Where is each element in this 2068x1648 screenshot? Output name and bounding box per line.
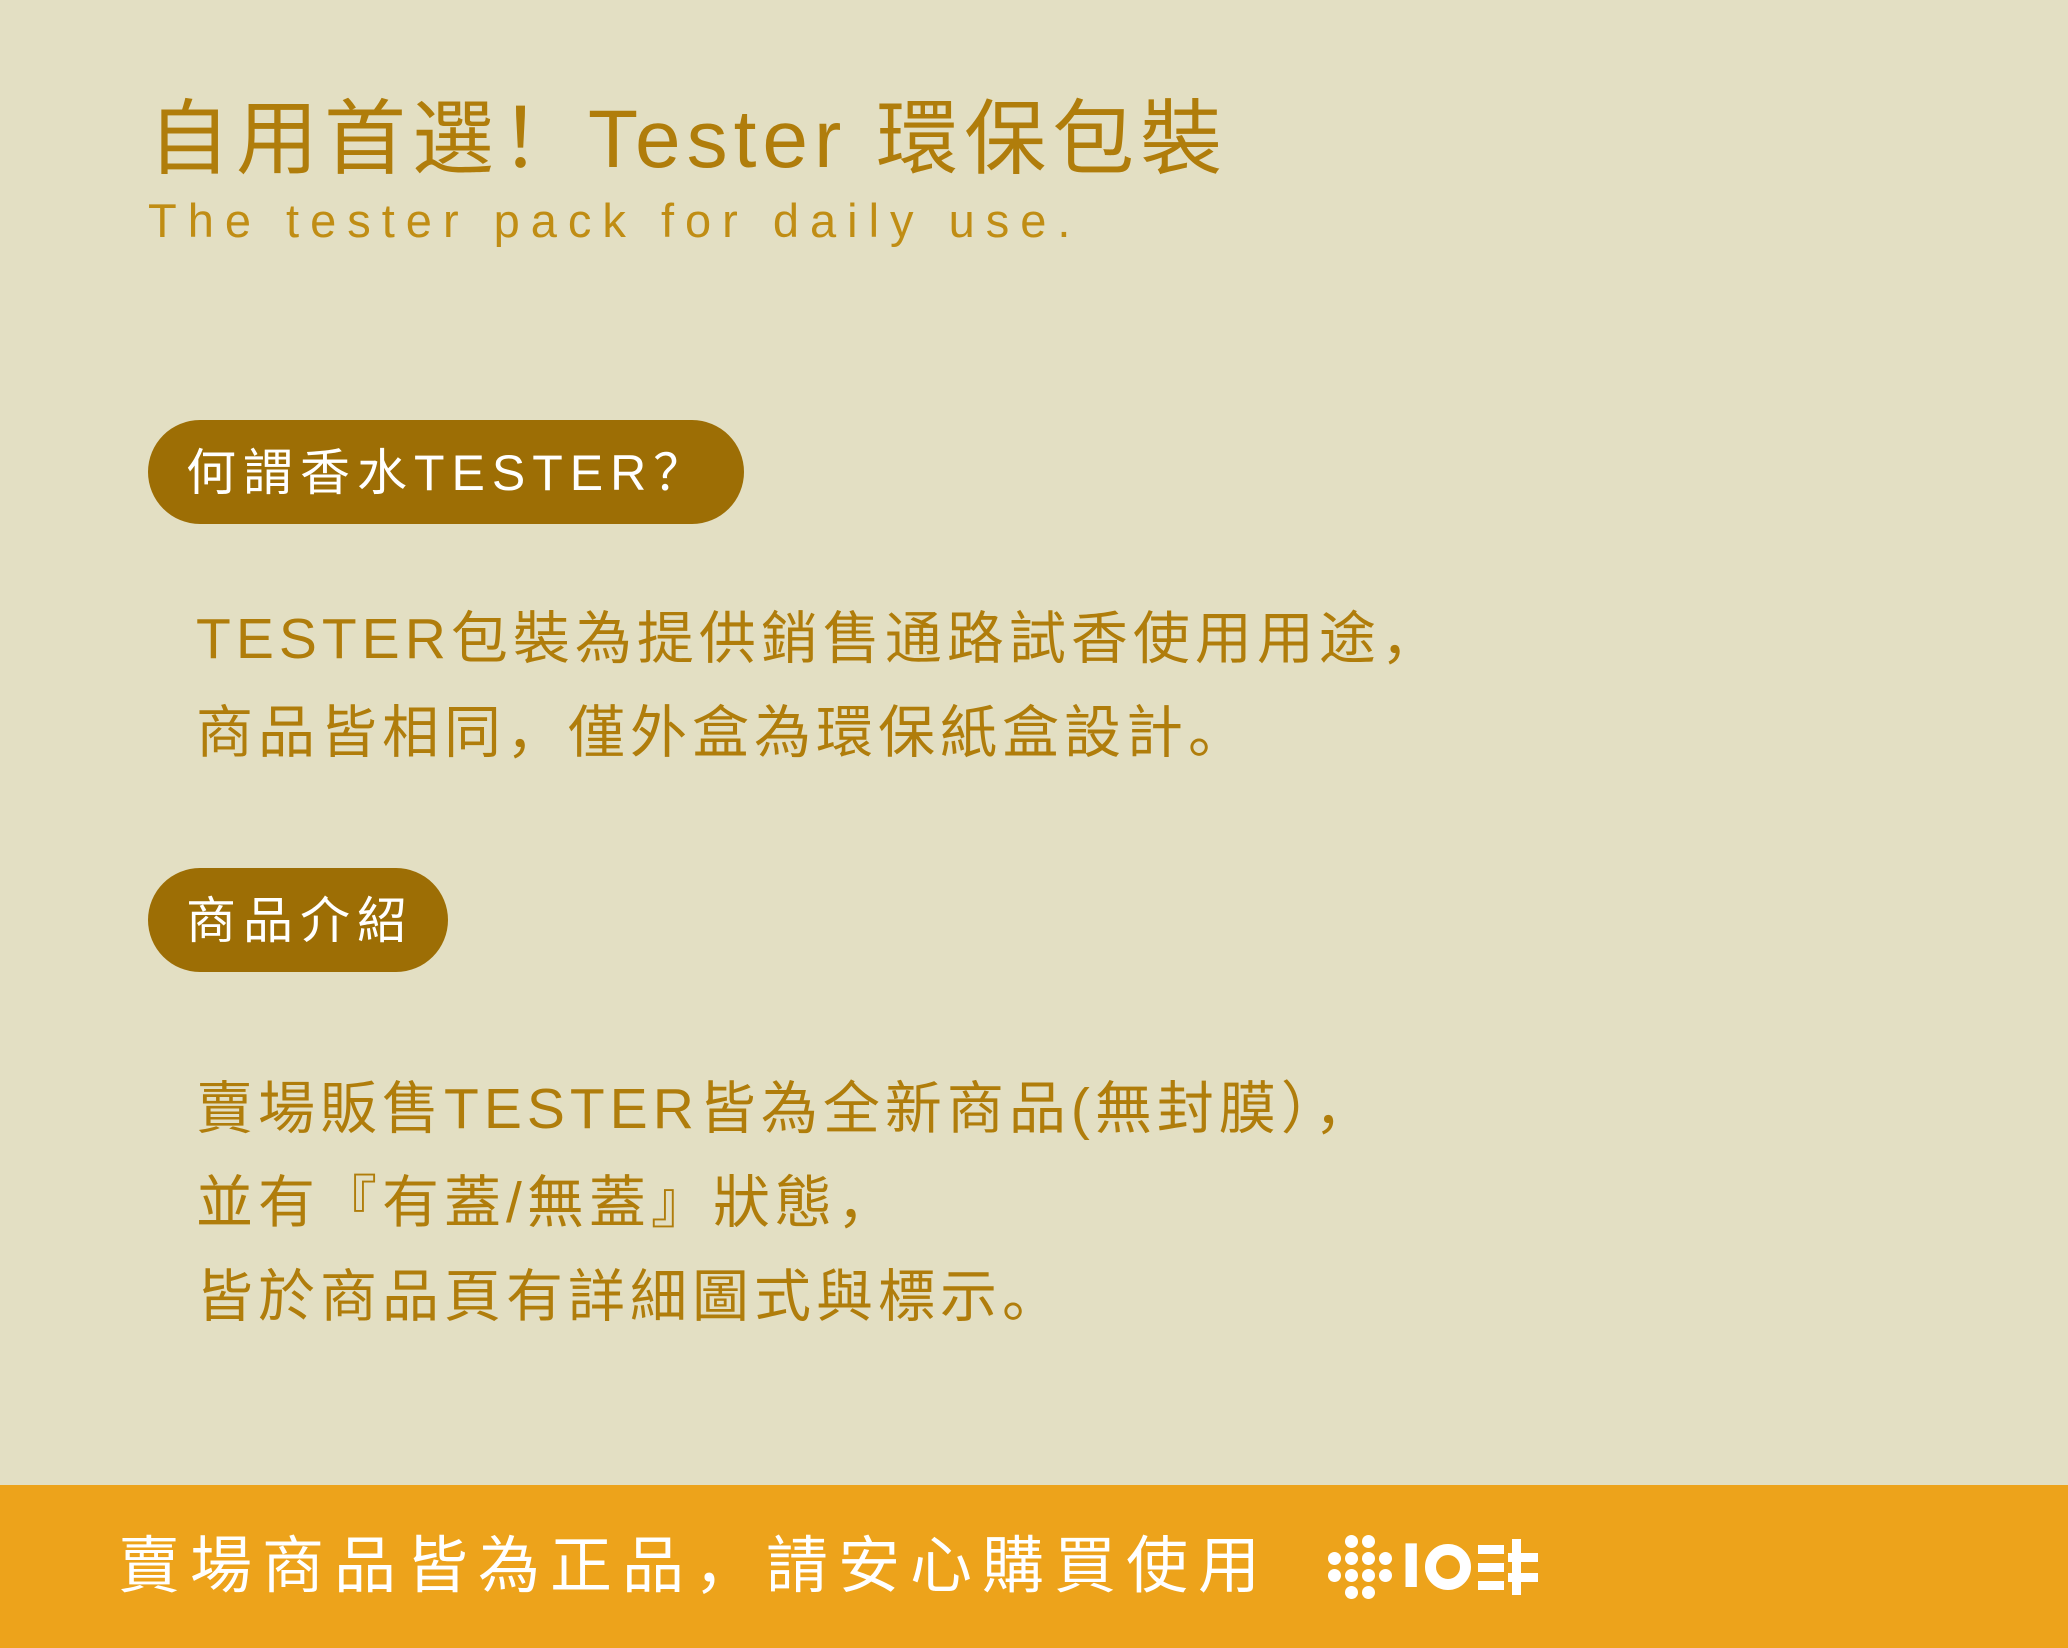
logo-glyph-icon [1478,1539,1540,1595]
logo-dot-grid-icon [1328,1535,1392,1599]
logo-letter-i-icon: I [1400,1537,1420,1597]
body-line: 賣場販售TESTER皆為全新商品(無封膜）， [196,1062,1376,1156]
section-body-what-is-tester: TESTER包裝為提供銷售通路試香使用用途， 商品皆相同，僅外盒為環保紙盒設計。 [196,592,1443,780]
header-block: 自用首選！Tester 環保包裝 The tester pack for dai… [148,96,1948,246]
banner-message: 賣場商品皆為正品，請安心購買使用 [118,1536,1270,1598]
bottom-banner: 賣場商品皆為正品，請安心購買使用 I [0,1485,2068,1648]
body-line: 商品皆相同，僅外盒為環保紙盒設計。 [196,686,1443,780]
poster-canvas: 自用首選！Tester 環保包裝 The tester pack for dai… [0,0,2068,1648]
body-line: TESTER包裝為提供銷售通路試香使用用途， [196,592,1443,686]
brand-logo: I [1328,1532,1540,1602]
logo-ring-icon [1425,1544,1471,1590]
section-pill-product-intro: 商品介紹 [148,868,448,972]
section-pill-what-is-tester: 何謂香水TESTER？ [148,420,744,524]
page-title: 自用首選！Tester 環保包裝 [148,96,1948,185]
body-line: 並有『有蓋/無蓋』狀態， [196,1156,1376,1250]
section-body-product-intro: 賣場販售TESTER皆為全新商品(無封膜）， 並有『有蓋/無蓋』狀態， 皆於商品… [196,1062,1376,1344]
page-subtitle: The tester pack for daily use. [148,195,1948,247]
body-line: 皆於商品頁有詳細圖式與標示。 [196,1250,1376,1344]
